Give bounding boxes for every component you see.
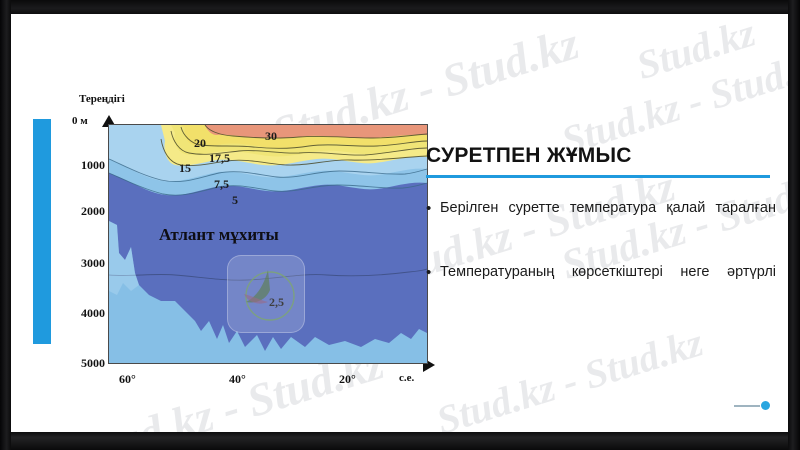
chart-x-tick-se: с.е. [399,372,414,384]
list-item-text: Температураның көрсеткіштері неге әртүрл… [440,260,776,310]
list-item-text: Берілген суретте температура қалай тарал… [440,196,776,246]
letterbox-right [788,0,800,450]
chart-x-tick-20: 20° [339,372,356,387]
letterbox-top [0,0,800,14]
chart-y-tick-2000: 2000 [61,204,105,219]
chart-y-axis-title: Тереңдігі [79,93,125,105]
ocean-temperature-chart: Тереңдігі 0 м 1000 2000 3000 4000 5000 6… [61,84,436,394]
chart-region-label: Атлант мұхиты [159,225,279,245]
list-item: • Берілген суретте температура қалай тар… [426,196,776,246]
accent-bar [33,119,51,344]
contour-label-30: 30 [265,129,277,144]
chart-y-tick-1000: 1000 [61,158,105,173]
chart-y-tick-4000: 4000 [61,306,105,321]
chart-x-tick-60: 60° [119,372,136,387]
chart-y-tick-5000: 5000 [61,356,105,371]
contour-label-5: 5 [232,193,238,208]
presentation-slide: Stud.kz - Stud.kz Stud.kz - Stud.kz Stud… [11,14,788,432]
watermark-text: Stud.kz - Stud.kz [431,318,708,432]
screen: Stud.kz - Stud.kz Stud.kz - Stud.kz Stud… [0,0,800,450]
page-title: СУРЕТПЕН ЖҰМЫС [426,144,776,168]
chart-plot-area: 30 20 17,5 15 7,5 5 2,5 Атлант мұхиты [108,124,428,364]
letterbox-bottom [0,432,800,450]
content-panel: СУРЕТПЕН ЖҰМЫС • Берілген суретте темпер… [426,144,776,324]
contour-label-17-5: 17,5 [209,151,230,166]
corner-line-icon [734,405,760,407]
watermark-text: Stud.kz [631,14,761,89]
letterbox-left [0,0,11,450]
chart-x-tick-40: 40° [229,372,246,387]
title-underline [426,175,770,178]
list-item: • Температураның көрсеткіштері неге әртү… [426,260,776,310]
contour-label-15: 15 [179,161,191,176]
corner-dot-icon [761,401,770,410]
contour-label-20: 20 [194,136,206,151]
chart-logo-watermark-icon [227,255,305,333]
bullet-marker-icon: • [426,260,440,285]
chart-y-tick-3000: 3000 [61,256,105,271]
bullet-marker-icon: • [426,196,440,221]
contour-label-7-5: 7,5 [214,177,229,192]
chart-y-tick-0: 0 м [72,115,88,127]
corner-decoration [734,401,770,410]
